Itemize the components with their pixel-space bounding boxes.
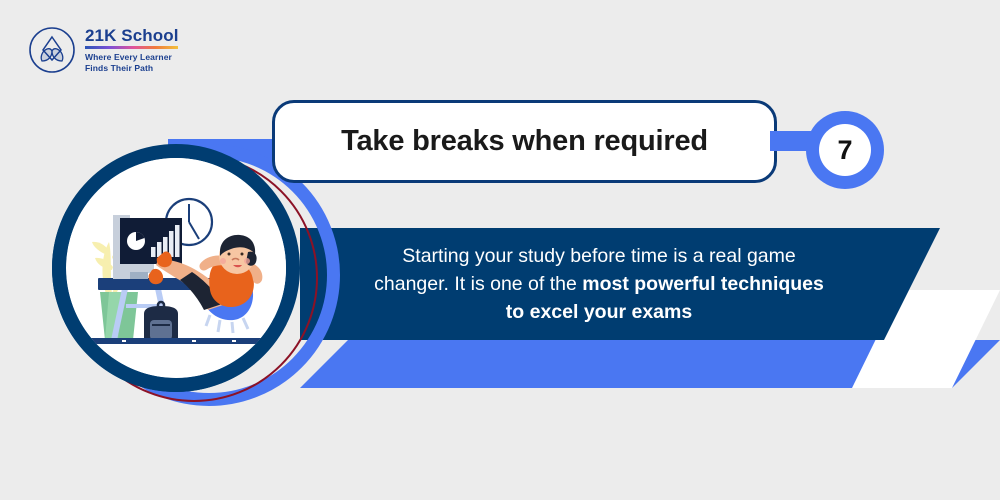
infographic-canvas: 21K School Where Every Learner Finds The… [0, 0, 1000, 500]
step-number-badge-inner: 7 [819, 124, 871, 176]
floor-line [60, 338, 292, 344]
backpack-icon [144, 302, 178, 340]
step-number: 7 [837, 135, 852, 166]
pie-chart-icon [127, 232, 145, 250]
banner-navy-panel: Starting your study before time is a rea… [300, 228, 940, 340]
logo-title: 21K School [85, 27, 179, 45]
student-relaxing-illustration [52, 144, 300, 392]
step-number-badge: 7 [806, 111, 884, 189]
title-card: Take breaks when required [272, 100, 777, 183]
body-text: Starting your study before time is a rea… [364, 242, 834, 326]
logo-gradient-rule [85, 46, 178, 49]
logo-tagline-line1: Where Every Learner [85, 52, 172, 62]
brand-logo: 21K School Where Every Learner Finds The… [28, 26, 179, 74]
logo-tagline: Where Every Learner Finds Their Path [85, 52, 179, 73]
lotus-circle-icon [28, 26, 76, 74]
logo-tagline-line2: Finds Their Path [85, 63, 153, 73]
page-title: Take breaks when required [341, 125, 708, 158]
